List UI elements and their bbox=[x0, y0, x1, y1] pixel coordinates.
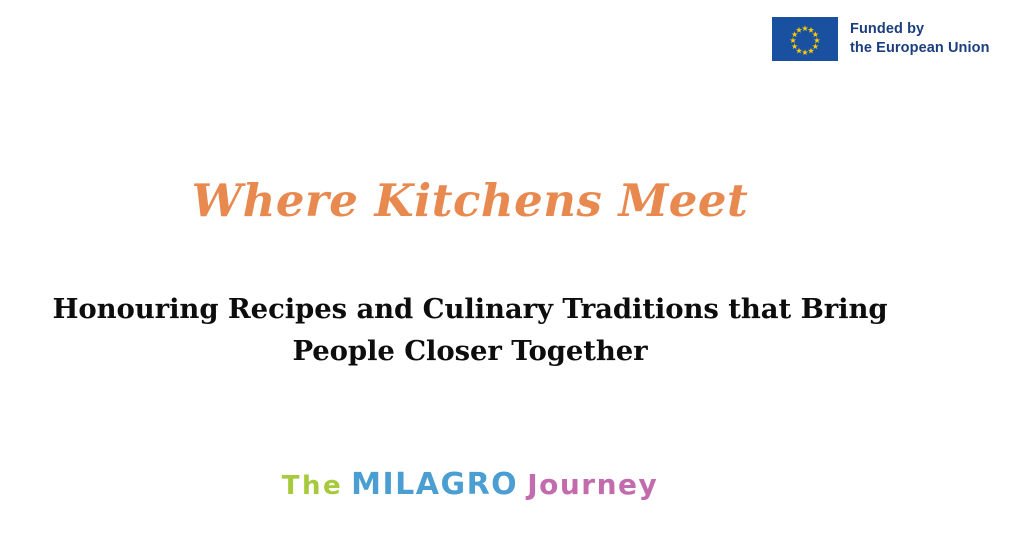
logo-word-journey: Journey bbox=[527, 471, 658, 499]
page-title: Where Kitchens Meet bbox=[0, 176, 940, 226]
milagro-journey-logo: TheMILAGROJourney bbox=[0, 470, 940, 500]
logo-word-the: The bbox=[282, 473, 343, 499]
slide-canvas: Funded by the European Union Where Kitch… bbox=[0, 0, 1024, 549]
eu-funding-emblem: Funded by the European Union bbox=[772, 17, 990, 61]
logo-word-milagro: MILAGRO bbox=[351, 470, 518, 500]
eu-funding-text-line-1: Funded by bbox=[850, 20, 990, 39]
eu-funding-text: Funded by the European Union bbox=[850, 20, 990, 58]
page-subtitle: Honouring Recipes and Culinary Tradition… bbox=[22, 289, 918, 373]
european-union-flag-icon bbox=[772, 17, 838, 61]
eu-funding-text-line-2: the European Union bbox=[850, 39, 990, 58]
